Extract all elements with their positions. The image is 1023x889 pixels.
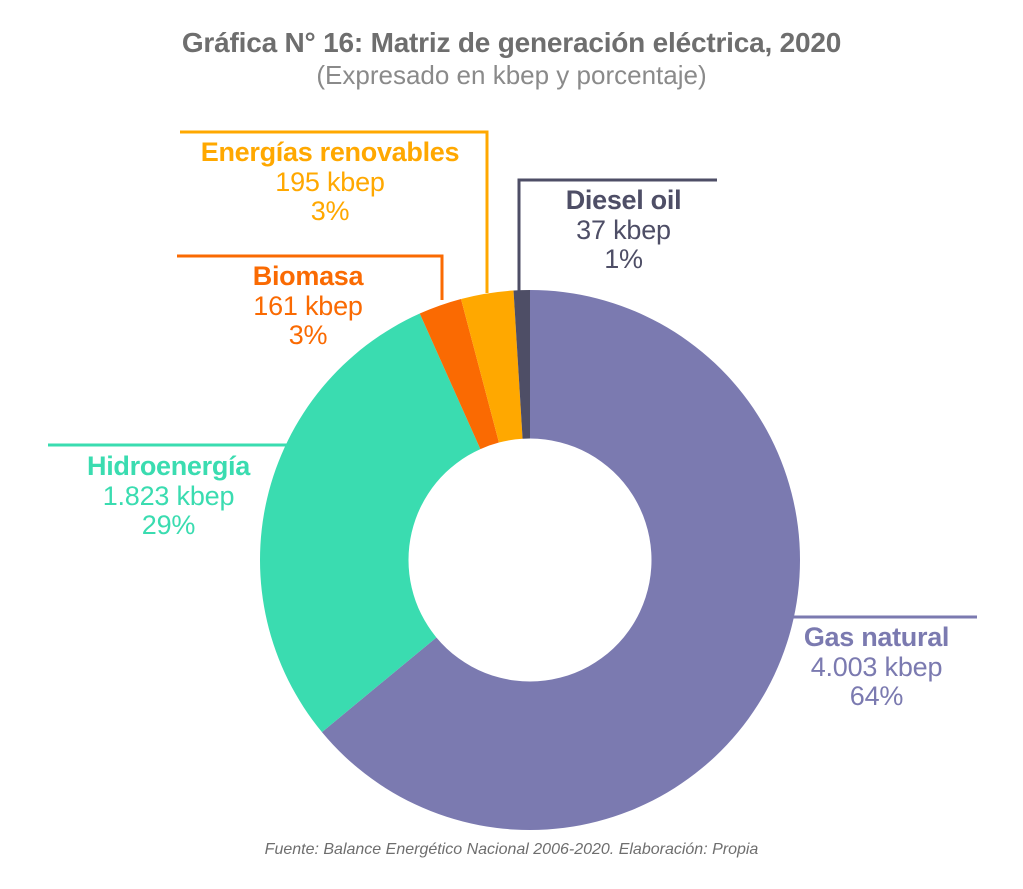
callout-hidro-name: Hidroenergía: [42, 452, 295, 482]
callout-hidroenergia: Hidroenergía 1.823 kbep 29%: [42, 452, 295, 541]
chart-page: Gráfica N° 16: Matriz de generación eléc…: [0, 0, 1023, 889]
callout-renovables-name: Energías renovables: [175, 138, 485, 168]
donut-chart-svg: [0, 0, 1023, 889]
callout-renovables-value: 195 kbep: [175, 168, 485, 198]
callout-biomasa: Biomasa 161 kbep 3%: [172, 262, 444, 351]
donut-slice-gas-natural[interactable]: [322, 290, 800, 830]
donut-slices: [260, 290, 800, 830]
callout-gas-percent: 64%: [774, 682, 979, 712]
callout-hidro-percent: 29%: [42, 511, 295, 541]
callout-diesel-name: Diesel oil: [527, 186, 720, 216]
callout-biomasa-name: Biomasa: [172, 262, 444, 292]
callout-diesel-value: 37 kbep: [527, 216, 720, 246]
callout-biomasa-value: 161 kbep: [172, 292, 444, 322]
callout-renovables-percent: 3%: [175, 197, 485, 227]
callout-gas-natural: Gas natural 4.003 kbep 64%: [774, 623, 979, 712]
callout-gas-value: 4.003 kbep: [774, 653, 979, 683]
donut-slice-diesel-oil[interactable]: [514, 290, 530, 439]
source-note: Fuente: Balance Energético Nacional 2006…: [0, 841, 1023, 859]
callout-diesel-oil: Diesel oil 37 kbep 1%: [527, 186, 720, 275]
page-title: Gráfica N° 16: Matriz de generación eléc…: [0, 26, 1023, 59]
page-subtitle: (Expresado en kbep y porcentaje): [0, 60, 1023, 91]
callout-hidro-value: 1.823 kbep: [42, 482, 295, 512]
callout-energias-renovables: Energías renovables 195 kbep 3%: [175, 138, 485, 227]
callout-gas-name: Gas natural: [774, 623, 979, 653]
donut-chart: [0, 0, 1023, 889]
donut-slice-energias-renovables[interactable]: [461, 291, 523, 443]
callout-biomasa-percent: 3%: [172, 321, 444, 351]
callout-diesel-percent: 1%: [527, 245, 720, 275]
title-block: Gráfica N° 16: Matriz de generación eléc…: [0, 26, 1023, 91]
